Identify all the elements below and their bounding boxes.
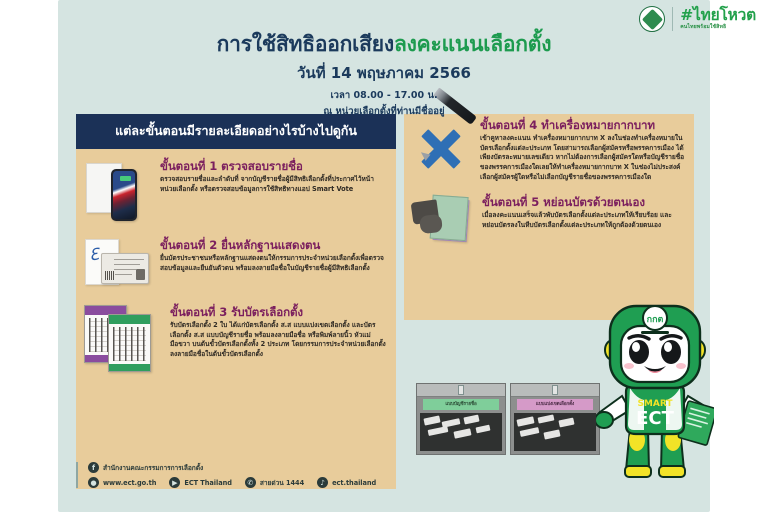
election-time: เวลา 08.00 - 17.00 น. bbox=[58, 88, 710, 103]
phone-icon: ✆ bbox=[245, 477, 256, 488]
ballot-grid bbox=[113, 327, 146, 361]
ballot-slip bbox=[538, 414, 555, 423]
brand-hashtag: #ไทยโหวต bbox=[680, 8, 756, 24]
ect-seal-icon bbox=[639, 6, 665, 32]
right-column: ขั้นตอนที่ 4 ทำเครื่องหมายกากบาท เข้าคูห… bbox=[404, 114, 694, 320]
box-clip bbox=[552, 385, 558, 395]
step-item-5: ขั้นตอนที่ 5 หย่อนบัตรด้วยตนเอง เมื่อลงค… bbox=[412, 195, 686, 249]
step-title-2: ขั้นตอนที่ 2 ยื่นหลักฐานแสดงตน bbox=[160, 239, 388, 252]
x-mark-pen-icon bbox=[412, 118, 472, 180]
section-ribbon: แต่ละขั้นตอนมีรายละเอียดอย่างไรบ้างไปดูก… bbox=[76, 114, 396, 149]
id-card-shape bbox=[101, 253, 149, 284]
title-block: การใช้สิทธิออกเสียงลงคะแนนเลือกตั้ง วันท… bbox=[58, 32, 710, 119]
box-interior bbox=[420, 413, 502, 451]
step-title-3: ขั้นตอนที่ 3 รับบัตรเลือกตั้ง bbox=[170, 306, 388, 319]
step-title-4: ขั้นตอนที่ 4 ทำเครื่องหมายกากบาท bbox=[480, 119, 686, 132]
youtube-icon: ▶ bbox=[169, 477, 180, 488]
ballot-slip bbox=[476, 425, 491, 434]
brand-text: #ไทยโหวต คนไทยพร้อมใช้สิทธิ bbox=[680, 8, 756, 30]
footer-text-tiktok: ect.thailand bbox=[332, 479, 376, 487]
step-art-3 bbox=[84, 305, 162, 375]
card-line bbox=[114, 274, 132, 275]
step-body-2: ขั้นตอนที่ 2 ยื่นหลักฐานแสดงตน ยื่นบัตรป… bbox=[160, 238, 388, 273]
title-dark-part: การใช้สิทธิออกเสียง bbox=[217, 32, 394, 56]
phone-and-paper-icon bbox=[84, 159, 152, 225]
ballot-slip bbox=[520, 427, 540, 437]
phone-screen bbox=[113, 171, 135, 219]
election-date: วันที่ 14 พฤษภาคม 2566 bbox=[58, 61, 710, 85]
ballot-box-party-list: แบบบัญชีรายชื่อ bbox=[416, 383, 506, 455]
brand-divider bbox=[672, 7, 673, 31]
footer-item-tiktok[interactable]: ♪ ect.thailand bbox=[317, 477, 376, 488]
title-accent-part: ลงคะแนนเลือกตั้ง bbox=[394, 32, 551, 56]
ballot-box-photos: แบบบัญชีรายชื่อ แบบแบ่งเขตเลือกตั้ง bbox=[416, 383, 600, 455]
step-desc-1: ตรวจสอบรายชื่อและลำดับที่ จากบัญชีรายชื่… bbox=[160, 175, 388, 194]
brand-tagline: คนไทยพร้อมใช้สิทธิ bbox=[680, 25, 756, 30]
step-title-1: ขั้นตอนที่ 1 ตรวจสอบรายชื่อ bbox=[160, 160, 388, 173]
card-line bbox=[114, 269, 136, 270]
card-line bbox=[114, 264, 140, 265]
seal-inner-shape bbox=[642, 8, 663, 29]
step-body-5: ขั้นตอนที่ 5 หย่อนบัตรด้วยตนเอง เมื่อลงค… bbox=[482, 195, 686, 230]
step-item-1: ขั้นตอนที่ 1 ตรวจสอบรายชื่อ ตรวจสอบรายชื… bbox=[84, 159, 388, 225]
ballot-slip bbox=[516, 416, 534, 426]
svg-text:ECT: ECT bbox=[636, 408, 675, 429]
footer-text-facebook: สำนักงานคณะกรรมการการเลือกตั้ง bbox=[103, 462, 203, 473]
facebook-icon: f bbox=[88, 462, 99, 473]
footer-item-hotline[interactable]: ✆ สายด่วน 1444 bbox=[245, 477, 304, 488]
footer-row-2: ● www.ect.go.th ▶ ECT Thailand ✆ สายด่วน… bbox=[88, 477, 636, 488]
footer-text-hotline: สายด่วน 1444 bbox=[260, 477, 304, 488]
step-art-5 bbox=[412, 195, 474, 249]
ballot-box-constituency: แบบแบ่งเขตเลือกตั้ง bbox=[510, 383, 600, 455]
footer-text-website: www.ect.go.th bbox=[103, 479, 156, 487]
step-desc-2: ยื่นบัตรประชาชนหรือหลักฐานแสดงตนให้กรรมก… bbox=[160, 254, 388, 273]
right-panel: ขั้นตอนที่ 4 ทำเครื่องหมายกากบาท เข้าคูห… bbox=[404, 114, 694, 320]
poster-root: #ไทยโหวต คนไทยพร้อมใช้สิทธิ การใช้สิทธิอ… bbox=[0, 0, 768, 512]
ballot-slip bbox=[463, 415, 479, 425]
step-item-2: ℇ ขั้นตอนที่ 2 ยื่นหลักฐานแสดงตน ยื bbox=[84, 238, 388, 292]
svg-text:กกต: กกต bbox=[647, 315, 664, 325]
ballot-slip bbox=[453, 428, 471, 438]
ballot-box-label-constituency: แบบแบ่งเขตเลือกตั้ง bbox=[517, 399, 593, 410]
step-body-1: ขั้นตอนที่ 1 ตรวจสอบรายชื่อ ตรวจสอบรายชื… bbox=[160, 159, 388, 194]
website-icon: ● bbox=[88, 477, 99, 488]
election-place: ณ หน่วยเลือกตั้งที่ท่านมีชื่ออยู่ bbox=[58, 104, 710, 119]
left-column: แต่ละขั้นตอนมีรายละเอียดอย่างไรบ้างไปดูก… bbox=[76, 114, 396, 489]
footer-text-youtube: ECT Thailand bbox=[184, 479, 232, 487]
two-ballots-icon bbox=[84, 305, 162, 375]
card-barcode bbox=[105, 271, 115, 280]
footer-item-website[interactable]: ● www.ect.go.th bbox=[88, 477, 156, 488]
ballot-box-label-party-list: แบบบัญชีรายชื่อ bbox=[423, 399, 499, 410]
footer-row-1: f สำนักงานคณะกรรมการการเลือกตั้ง bbox=[88, 462, 636, 473]
footer-item-facebook[interactable]: f สำนักงานคณะกรรมการการเลือกตั้ง bbox=[88, 462, 203, 473]
ballot-slip bbox=[423, 415, 440, 425]
left-panel: ขั้นตอนที่ 1 ตรวจสอบรายชื่อ ตรวจสอบรายชื… bbox=[76, 149, 396, 489]
step-title-5: ขั้นตอนที่ 5 หย่อนบัตรด้วยตนเอง bbox=[482, 196, 686, 209]
box-interior bbox=[514, 413, 596, 451]
step-desc-4: เข้าคูหาลงคะแนน ทำเครื่องหมายกากบาท X ลง… bbox=[480, 134, 686, 182]
ballot-slip bbox=[558, 418, 574, 428]
smartphone-shape bbox=[111, 169, 137, 221]
step-art-4 bbox=[412, 118, 472, 180]
tiktok-icon: ♪ bbox=[317, 477, 328, 488]
ballot-party-list-shape bbox=[108, 314, 151, 372]
footer-item-youtube[interactable]: ▶ ECT Thailand bbox=[169, 477, 232, 488]
page-title: การใช้สิทธิออกเสียงลงคะแนนเลือกตั้ง bbox=[58, 32, 710, 57]
card-line bbox=[114, 259, 144, 260]
card-photo bbox=[136, 269, 145, 280]
ballot-foot bbox=[109, 364, 150, 371]
step-art-2: ℇ bbox=[84, 238, 152, 292]
step-desc-3: รับบัตรเลือกตั้ง 2 ใบ ได้แก่บัตรเลือกตั้… bbox=[170, 321, 388, 359]
step-art-1 bbox=[84, 159, 152, 225]
brand-lockup: #ไทยโหวต คนไทยพร้อมใช้สิทธิ bbox=[639, 6, 756, 32]
step-desc-5: เมื่อลงคะแนนเสร็จแล้วพับบัตรเลือกตั้งแต่… bbox=[482, 211, 686, 230]
hand-drop-ballot-icon bbox=[412, 195, 474, 249]
smart-ect-mascot: SMART ECT กกต bbox=[596, 300, 714, 480]
box-clip bbox=[458, 385, 464, 395]
ballot-band bbox=[109, 315, 150, 324]
step-body-3: ขั้นตอนที่ 3 รับบัตรเลือกตั้ง รับบัตรเลื… bbox=[170, 305, 388, 360]
id-card-icon: ℇ bbox=[84, 238, 152, 292]
ballot-slip bbox=[428, 426, 449, 436]
step-item-3: ขั้นตอนที่ 3 รับบัตรเลือกตั้ง รับบัตรเลื… bbox=[84, 305, 388, 375]
footer: f สำนักงานคณะกรรมการการเลือกตั้ง ● www.e… bbox=[76, 462, 636, 488]
step-body-4: ขั้นตอนที่ 4 ทำเครื่องหมายกากบาท เข้าคูห… bbox=[480, 118, 686, 182]
ballot-slip bbox=[543, 429, 560, 439]
step-item-4: ขั้นตอนที่ 4 ทำเครื่องหมายกากบาท เข้าคูห… bbox=[412, 118, 686, 182]
